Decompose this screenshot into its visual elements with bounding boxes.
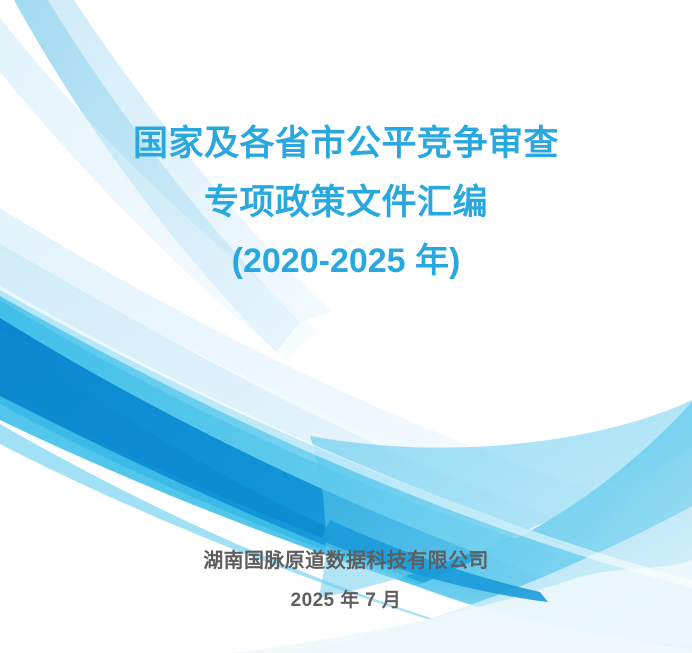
document-cover-page: 国家及各省市公平竞争审查 专项政策文件汇编 (2020-2025 年) 湖南国脉… <box>0 0 692 653</box>
title-line-1: 国家及各省市公平竞争审查 <box>0 126 692 161</box>
cover-title-block: 国家及各省市公平竞争审查 专项政策文件汇编 (2020-2025 年) <box>0 126 692 278</box>
title-line-3-year-range: (2020-2025 年) <box>0 244 692 278</box>
title-line-2: 专项政策文件汇编 <box>0 185 692 220</box>
cover-footer-block: 湖南国脉原道数据科技有限公司 2025 年 7 月 <box>0 551 692 610</box>
publisher-name: 湖南国脉原道数据科技有限公司 <box>0 551 692 571</box>
publication-date: 2025 年 7 月 <box>0 591 692 610</box>
cover-content: 国家及各省市公平竞争审查 专项政策文件汇编 (2020-2025 年) 湖南国脉… <box>0 0 692 653</box>
